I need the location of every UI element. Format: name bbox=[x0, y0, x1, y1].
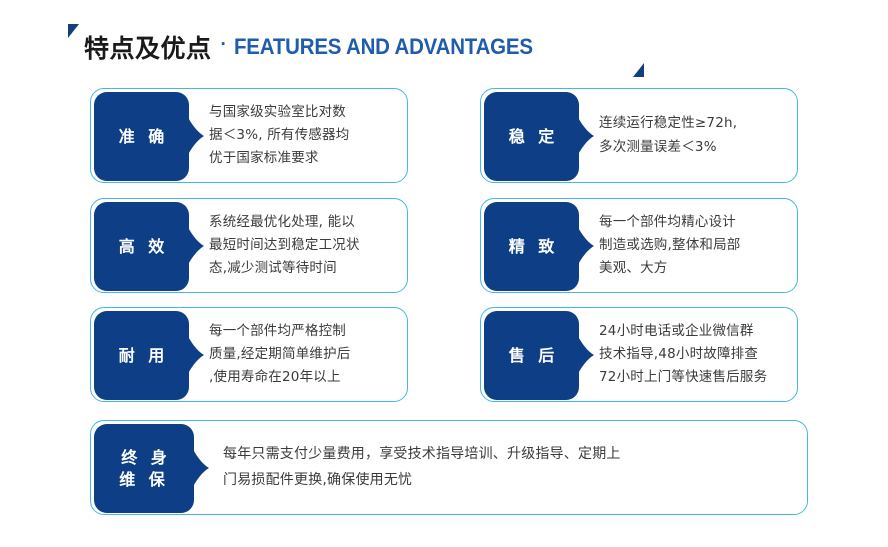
feature-label-box: 终 身 维 保 bbox=[94, 424, 194, 513]
feature-body-text: 每一个部件均严格控制 质量,经定期简单维护后 ,使用寿命在20年以上 bbox=[209, 320, 351, 390]
features-board: 准 确 与国家级实验室比对数 据＜3%, 所有传感器均 优于国家标准要求 稳 定… bbox=[0, 0, 888, 547]
pointer-notch-icon bbox=[187, 225, 205, 267]
feature-body-text: 每一个部件均精心设计 制造或选购,整体和局部 美观、大方 bbox=[599, 211, 741, 281]
feature-label-box: 耐 用 bbox=[94, 311, 189, 400]
pointer-notch-icon bbox=[577, 334, 595, 376]
feature-card-stability[interactable]: 稳 定 连续运行稳定性≥72h, 多次测量误差＜3% bbox=[480, 88, 798, 183]
feature-label-text: 精 致 bbox=[505, 236, 559, 258]
feature-label-box: 精 致 bbox=[484, 202, 579, 291]
pointer-notch-icon bbox=[577, 225, 595, 267]
feature-card-accuracy[interactable]: 准 确 与国家级实验室比对数 据＜3%, 所有传感器均 优于国家标准要求 bbox=[90, 88, 408, 183]
pointer-notch-icon bbox=[577, 115, 595, 157]
feature-body: 与国家级实验室比对数 据＜3%, 所有传感器均 优于国家标准要求 bbox=[209, 89, 395, 182]
feature-label-text: 稳 定 bbox=[505, 126, 559, 148]
feature-body-text: 连续运行稳定性≥72h, 多次测量误差＜3% bbox=[599, 112, 737, 158]
feature-label-text: 终 身 维 保 bbox=[117, 447, 171, 490]
feature-card-durability[interactable]: 耐 用 每一个部件均严格控制 质量,经定期简单维护后 ,使用寿命在20年以上 bbox=[90, 307, 408, 402]
feature-label-text: 准 确 bbox=[115, 126, 169, 148]
feature-card-refinement[interactable]: 精 致 每一个部件均精心设计 制造或选购,整体和局部 美观、大方 bbox=[480, 198, 798, 293]
feature-label-box: 售 后 bbox=[484, 311, 579, 400]
feature-body: 每年只需支付少量费用，享受技术指导培训、升级指导、定期上 门易损配件更换,确保使… bbox=[223, 421, 793, 514]
feature-body: 每一个部件均精心设计 制造或选购,整体和局部 美观、大方 bbox=[599, 199, 785, 292]
feature-body-text: 与国家级实验室比对数 据＜3%, 所有传感器均 优于国家标准要求 bbox=[209, 101, 349, 171]
feature-body: 连续运行稳定性≥72h, 多次测量误差＜3% bbox=[599, 89, 785, 182]
feature-label-box: 高 效 bbox=[94, 202, 189, 291]
feature-body: 24小时电话或企业微信群 技术指导,48小时故障排查 72小时上门等快速售后服务 bbox=[599, 308, 785, 401]
feature-body-text: 每年只需支付少量费用，享受技术指导培训、升级指导、定期上 门易损配件更换,确保使… bbox=[223, 442, 621, 494]
feature-body-text: 24小时电话或企业微信群 技术指导,48小时故障排查 72小时上门等快速售后服务 bbox=[599, 320, 767, 390]
feature-card-after-sales[interactable]: 售 后 24小时电话或企业微信群 技术指导,48小时故障排查 72小时上门等快速… bbox=[480, 307, 798, 402]
feature-body-text: 系统经最优化处理, 能以 最短时间达到稳定工况状 态,减少测试等待时间 bbox=[209, 211, 360, 281]
feature-body: 系统经最优化处理, 能以 最短时间达到稳定工况状 态,减少测试等待时间 bbox=[209, 199, 395, 292]
feature-label-text: 售 后 bbox=[505, 345, 559, 367]
feature-card-lifetime-warranty[interactable]: 终 身 维 保 每年只需支付少量费用，享受技术指导培训、升级指导、定期上 门易损… bbox=[90, 420, 808, 515]
pointer-notch-icon bbox=[192, 447, 210, 489]
pointer-notch-icon bbox=[187, 115, 205, 157]
feature-body: 每一个部件均严格控制 质量,经定期简单维护后 ,使用寿命在20年以上 bbox=[209, 308, 395, 401]
feature-card-efficiency[interactable]: 高 效 系统经最优化处理, 能以 最短时间达到稳定工况状 态,减少测试等待时间 bbox=[90, 198, 408, 293]
pointer-notch-icon bbox=[187, 334, 205, 376]
feature-label-text: 高 效 bbox=[115, 236, 169, 258]
feature-label-box: 稳 定 bbox=[484, 92, 579, 181]
feature-label-text: 耐 用 bbox=[115, 345, 169, 367]
feature-label-box: 准 确 bbox=[94, 92, 189, 181]
